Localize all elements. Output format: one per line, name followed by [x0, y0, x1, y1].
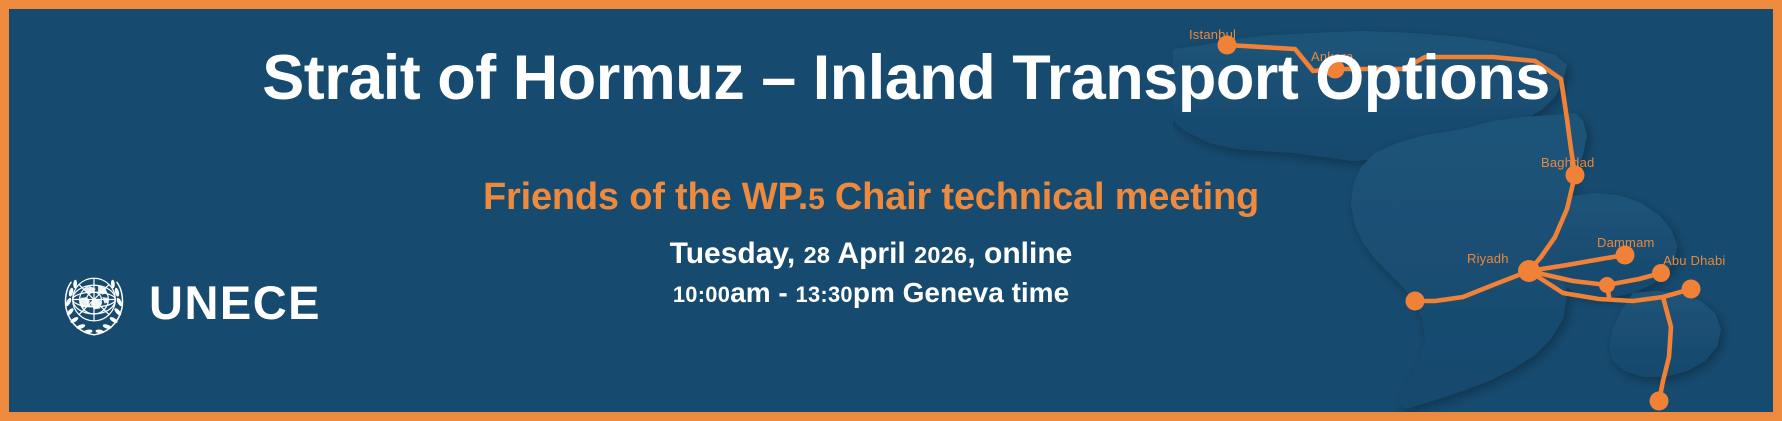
time-start: 10:00	[673, 282, 730, 307]
time-end: 13:30	[796, 282, 853, 307]
date-mode: , online	[967, 237, 1072, 270]
un-emblem-icon	[53, 261, 135, 343]
date-year: 2026	[914, 242, 967, 268]
banner-subtitle: Friends of the WP.5 Chair technical meet…	[9, 177, 1773, 219]
banner-inner: Istanbul Ankara Baghdad Dammam Riyadh Ab…	[9, 9, 1773, 412]
subtitle-text-after: Chair technical meeting	[825, 176, 1259, 218]
time-separator: -	[771, 277, 796, 308]
unece-logo: UNECE	[53, 261, 321, 343]
time-end-suffix: pm Geneva time	[853, 277, 1069, 308]
event-banner: Istanbul Ankara Baghdad Dammam Riyadh Ab…	[0, 0, 1782, 421]
date-month: April	[830, 237, 914, 270]
subtitle-text-before: Friends of the WP.	[483, 176, 808, 218]
unece-logo-text: UNECE	[149, 279, 321, 326]
banner-content: Strait of Hormuz – Inland Transport Opti…	[9, 9, 1773, 412]
subtitle-wp-number: 5	[808, 183, 825, 216]
date-weekday: Tuesday,	[670, 237, 796, 270]
banner-title: Strait of Hormuz – Inland Transport Opti…	[9, 45, 1773, 111]
time-start-suffix: am	[730, 277, 770, 308]
date-day-number: 28	[804, 242, 831, 268]
